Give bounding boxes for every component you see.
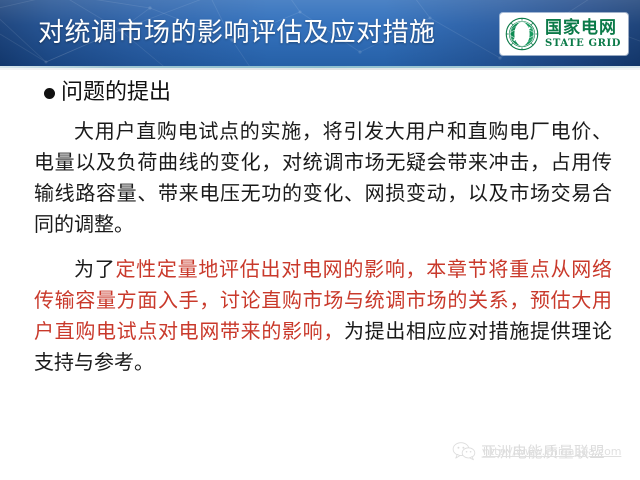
- page-title: 对统调市场的影响评估及应对措施: [38, 16, 436, 50]
- section-heading-label: 问题的提出: [61, 78, 171, 108]
- section-heading: 问题的提出: [44, 78, 640, 108]
- state-grid-logo: 国家电网 STATE GRID: [500, 13, 628, 55]
- state-grid-logo-text: 国家电网 STATE GRID: [545, 20, 621, 49]
- watermark-url: http://www.chinapqa.com: [483, 445, 621, 458]
- header-separator-line-secondary: [0, 68, 640, 70]
- paragraph-two: 为了定性定量地评估出对电网的影响，本章节将重点从网络传输容量方面入手，讨论直购市…: [34, 254, 612, 378]
- watermark: 亚洲电能质量联盟 http://www.chinapqa.com: [452, 438, 632, 464]
- bullet-dot-icon: [44, 88, 55, 99]
- paragraph-one: 大用户直购电试点的实施，将引发大用户和直购电厂电价、电量以及负荷曲线的变化，对统…: [34, 116, 612, 240]
- slide-content: 问题的提出 大用户直购电试点的实施，将引发大用户和直购电厂电价、电量以及负荷曲线…: [0, 78, 640, 378]
- paragraph-two-lead: 为了: [74, 257, 115, 281]
- watermark-text-wrap: 亚洲电能质量联盟 http://www.chinapqa.com: [481, 441, 605, 462]
- state-grid-globe-emblem: [505, 17, 539, 51]
- slide-canvas: 对统调市场的影响评估及应对措施 国家电网 STATE GRID: [0, 0, 640, 480]
- state-grid-name-en: STATE GRID: [545, 39, 621, 49]
- state-grid-name-cn: 国家电网: [545, 20, 621, 37]
- slide-header-bar: 对统调市场的影响评估及应对措施 国家电网 STATE GRID: [0, 0, 640, 66]
- wechat-icon: [452, 441, 476, 461]
